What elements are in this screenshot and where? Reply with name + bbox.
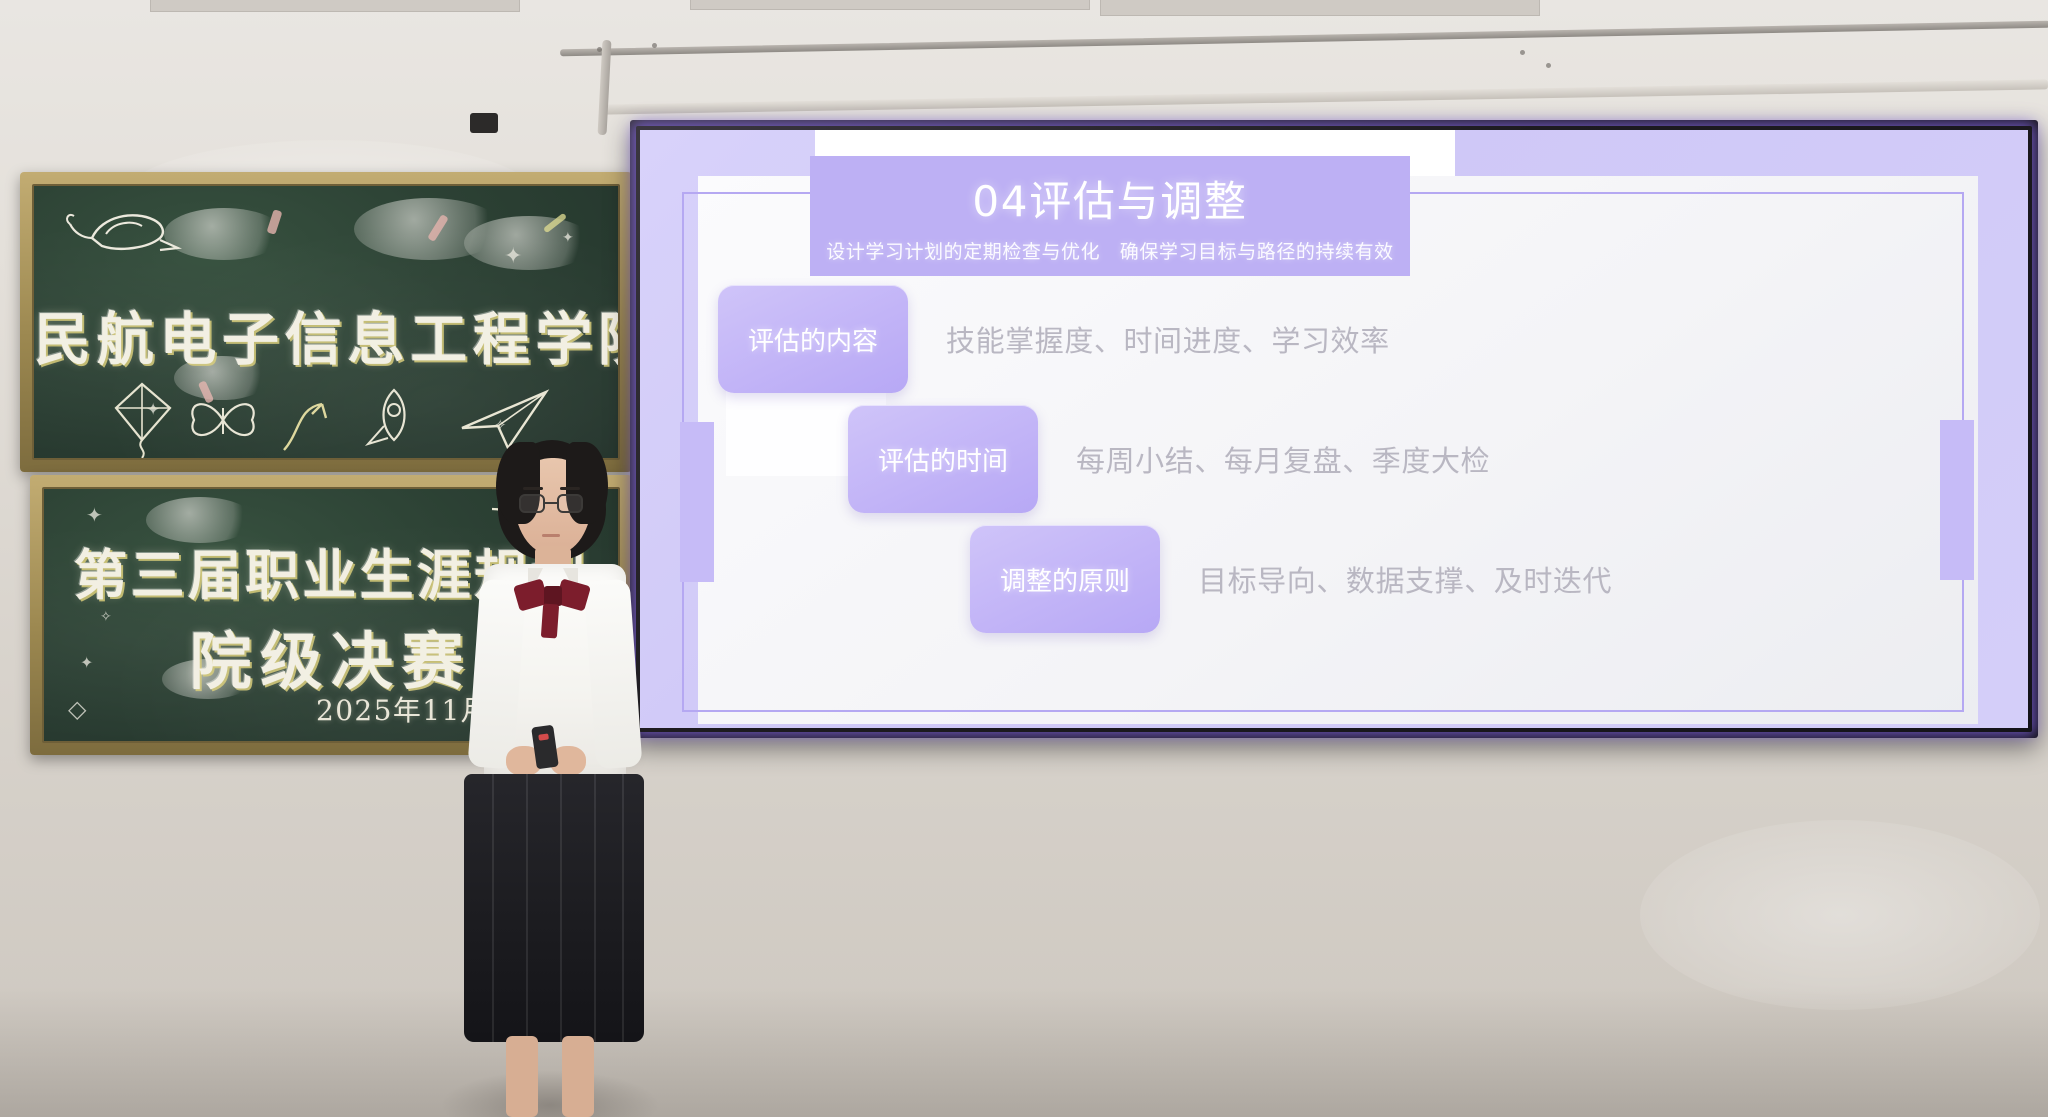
skirt-pleat: [560, 774, 562, 1042]
floor-shadow: [0, 987, 2048, 1117]
row-description: 每周小结、每月复盘、季度大检: [1076, 438, 1490, 480]
cloud-icon: [164, 208, 284, 260]
wall-dot: [1546, 63, 1551, 68]
bowtie-tail: [541, 603, 559, 638]
row-chip-label: 调整的原则: [970, 525, 1160, 633]
wall-dot: [597, 47, 602, 52]
glasses-lens-left: [519, 494, 545, 513]
wall-dot: [1520, 50, 1525, 55]
star-icon: ✦: [146, 400, 160, 420]
skirt: [464, 774, 644, 1042]
ceiling-panel-mid: [690, 0, 1090, 10]
wall-smudge: [1640, 820, 2040, 1010]
row-chip-label: 评估的内容: [718, 285, 908, 393]
ceiling-panel-left: [150, 0, 520, 12]
arrow-icon: [278, 392, 348, 458]
slide-canvas: 04评估与调整 设计学习计划的定期检查与优化 确保学习目标与路径的持续有效 评估…: [640, 130, 2028, 728]
blackboard-upper-surface: ✦ ✦ ✦ ✧ 民航电子信息工程学院: [32, 184, 620, 460]
projection-screen: 04评估与调整 设计学习计划的定期检查与优化 确保学习目标与路径的持续有效 评估…: [630, 120, 2038, 738]
ceiling-rail-lower: [600, 79, 2048, 114]
leg-left: [506, 1036, 538, 1117]
list-item: 评估的内容 技能掌握度、时间进度、学习效率: [718, 285, 1390, 393]
star-icon: ✦: [562, 230, 574, 246]
row-description: 目标导向、数据支撑、及时迭代: [1198, 558, 1612, 600]
presenter: [430, 430, 660, 1117]
star-icon: ✦: [86, 503, 103, 527]
skirt-pleat: [492, 774, 494, 1042]
list-item: 评估的时间 每周小结、每月复盘、季度大检: [848, 405, 1490, 513]
glasses-bridge: [545, 502, 557, 504]
eyebrow-right: [560, 487, 580, 490]
skirt-pleat: [622, 774, 624, 1042]
blackboard-upper-frame: ✦ ✦ ✦ ✧ 民航电子信息工程学院: [20, 172, 632, 472]
wall-dot: [652, 43, 657, 48]
leg-right: [562, 1036, 594, 1117]
eyebrow-left: [523, 487, 543, 490]
ceiling-rail: [560, 21, 2048, 57]
blackboard-headline: 民航电子信息工程学院: [34, 294, 618, 376]
slide-rows: 评估的内容 技能掌握度、时间进度、学习效率 评估的时间 每周小结、每月复盘、季度…: [640, 130, 2028, 728]
mouth: [542, 534, 560, 537]
star-icon: ✦: [504, 244, 522, 269]
presenter-shadow: [440, 1070, 660, 1117]
clicker-button-icon[interactable]: [538, 733, 549, 740]
row-chip-label: 评估的时间: [848, 405, 1038, 513]
cloud-icon: [464, 216, 594, 270]
projector-mount-icon: [470, 113, 498, 133]
list-item: 调整的原则 目标导向、数据支撑、及时迭代: [970, 525, 1612, 633]
classroom-scene: ✦ ✦ ✦ ✧ 民航电子信息工程学院: [0, 0, 2048, 1117]
skirt-pleat: [526, 774, 528, 1042]
ceiling-panel-right: [1100, 0, 1540, 16]
row-description: 技能掌握度、时间进度、学习效率: [946, 318, 1390, 360]
skirt-pleat: [594, 774, 596, 1042]
glasses-lens-right: [557, 494, 583, 513]
rocket-icon: [350, 382, 430, 460]
